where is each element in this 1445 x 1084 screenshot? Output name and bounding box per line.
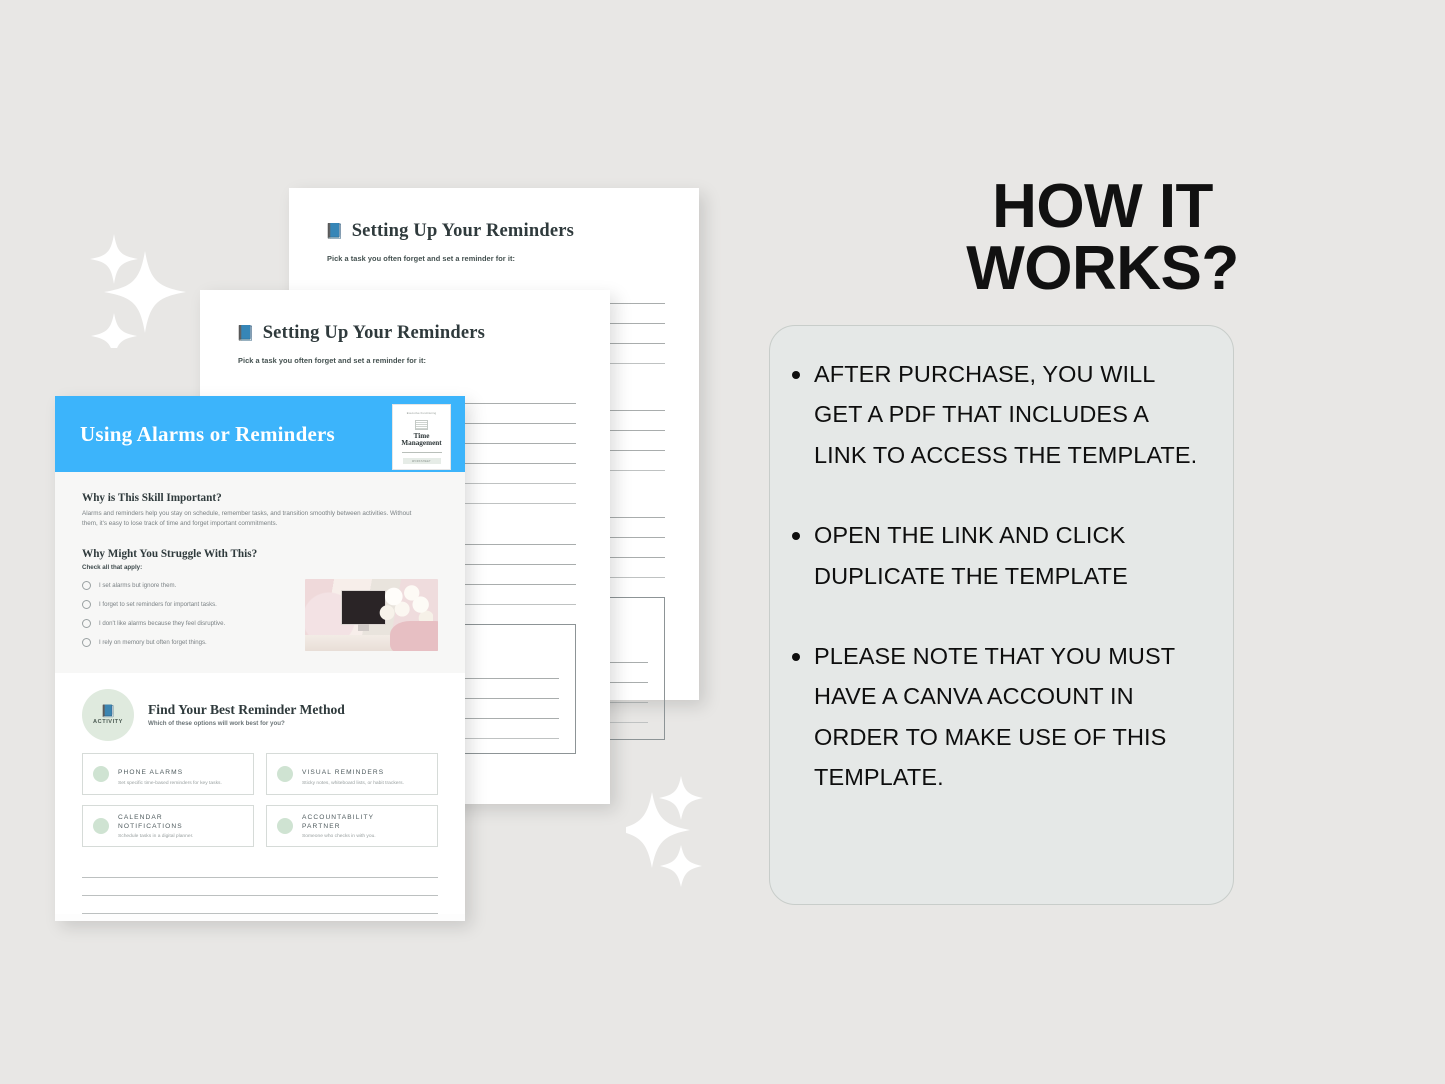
option-name: PHONE ALARMS bbox=[118, 769, 183, 776]
worksheet-intro-section: Why is This Skill Important? Alarms and … bbox=[55, 472, 465, 673]
option-card[interactable]: CALENDAR NOTIFICATIONS Schedule tasks in… bbox=[82, 805, 254, 847]
instructions-card: AFTER PURCHASE, YOU WILL GET A PDF THAT … bbox=[769, 325, 1234, 905]
section-heading-importance: Why is This Skill Important? bbox=[82, 492, 438, 504]
option-name: VISUAL REMINDERS bbox=[302, 769, 384, 776]
activity-badge: 📘 ACTIVITY bbox=[82, 689, 134, 741]
reminder-options-grid: PHONE ALARMS Set specific time-based rem… bbox=[82, 753, 438, 847]
promo-heading-line2: WORKS? bbox=[760, 238, 1445, 300]
instructions-list: AFTER PURCHASE, YOU WILL GET A PDF THAT … bbox=[792, 354, 1203, 798]
list-item-text: AFTER PURCHASE, YOU WILL GET A PDF THAT … bbox=[814, 354, 1203, 475]
option-bullet-icon bbox=[93, 818, 109, 834]
list-item: OPEN THE LINK AND CLICK DUPLICATE THE TE… bbox=[792, 515, 1203, 596]
list-item: AFTER PURCHASE, YOU WILL GET A PDF THAT … bbox=[792, 354, 1203, 475]
option-card[interactable]: VISUAL REMINDERS Sticky notes, whiteboar… bbox=[266, 753, 438, 795]
option-description: Sticky notes, whiteboard lists, or habit… bbox=[302, 781, 404, 786]
thumbnail-tag: WORKSHEET bbox=[403, 458, 441, 464]
checklist-item[interactable]: I set alarms but ignore them. bbox=[82, 581, 291, 590]
option-description: Schedule tasks in a digital planner. bbox=[118, 834, 210, 839]
worksheet-page-front: Using Alarms or Reminders Executive Func… bbox=[55, 396, 465, 921]
checklist-item-label: I rely on memory but often forget things… bbox=[99, 639, 207, 646]
photo-chair bbox=[390, 621, 438, 651]
thumbnail-glyph-icon bbox=[415, 420, 428, 430]
promo-copy-area: HOW IT WORKS? AFTER PURCHASE, YOU WILL G… bbox=[760, 0, 1445, 1084]
cover-thumbnail: Executive Functioning Time Management WO… bbox=[392, 404, 451, 470]
product-mockup-area: 📘 Setting Up Your Reminders Pick a task … bbox=[0, 0, 760, 1084]
option-card[interactable]: PHONE ALARMS Set specific time-based rem… bbox=[82, 753, 254, 795]
activity-subtitle: Which of these options will work best fo… bbox=[148, 720, 345, 727]
checklist-item-label: I don't like alarms because they feel di… bbox=[99, 620, 225, 627]
worksheet-title: Using Alarms or Reminders bbox=[80, 422, 335, 447]
section-body-importance: Alarms and reminders help you stay on sc… bbox=[82, 509, 412, 530]
page-title: Setting Up Your Reminders bbox=[352, 221, 574, 242]
option-bullet-icon bbox=[277, 766, 293, 782]
page-title: Setting Up Your Reminders bbox=[263, 323, 485, 344]
sparkle-icon bbox=[76, 218, 196, 348]
checklist-item[interactable]: I don't like alarms because they feel di… bbox=[82, 619, 291, 628]
checklist-item-label: I set alarms but ignore them. bbox=[99, 582, 176, 589]
option-name: CALENDAR NOTIFICATIONS bbox=[118, 813, 210, 832]
worksheet-header-bar: Using Alarms or Reminders Executive Func… bbox=[55, 396, 465, 472]
option-card[interactable]: ACCOUNTABILITY PARTNER Someone who check… bbox=[266, 805, 438, 847]
documents-icon: 📘 bbox=[236, 326, 255, 341]
desk-photo bbox=[305, 579, 438, 651]
page-header: 📘 Setting Up Your Reminders bbox=[289, 188, 699, 242]
promo-heading: HOW IT WORKS? bbox=[760, 176, 1445, 300]
section-heading-struggle: Why Might You Struggle With This? bbox=[82, 548, 438, 560]
write-line bbox=[82, 913, 438, 914]
checkbox-icon[interactable] bbox=[82, 581, 91, 590]
write-line bbox=[82, 877, 438, 878]
page-header: 📘 Setting Up Your Reminders bbox=[200, 290, 610, 344]
documents-icon: 📘 bbox=[101, 705, 116, 717]
sparkle-cluster-bottom-right bbox=[626, 762, 756, 892]
documents-icon: 📘 bbox=[325, 224, 344, 239]
promo-heading-line1: HOW IT bbox=[760, 176, 1445, 238]
thumbnail-rule bbox=[402, 451, 442, 453]
activity-section: 📘 ACTIVITY Find Your Best Reminder Metho… bbox=[55, 673, 465, 857]
page-subtitle: Pick a task you often forget and set a r… bbox=[200, 356, 610, 365]
list-item-text: PLEASE NOTE THAT YOU MUST HAVE A CANVA A… bbox=[814, 636, 1203, 798]
checklist-item[interactable]: I forget to set reminders for important … bbox=[82, 600, 291, 609]
thumbnail-eyebrow: Executive Functioning bbox=[407, 412, 437, 416]
option-description: Someone who checks in with you. bbox=[302, 834, 397, 839]
option-name: ACCOUNTABILITY PARTNER bbox=[302, 813, 397, 832]
option-description: Set specific time-based reminders for ke… bbox=[118, 781, 222, 786]
checklist-item-label: I forget to set reminders for important … bbox=[99, 601, 217, 608]
list-item-text: OPEN THE LINK AND CLICK DUPLICATE THE TE… bbox=[814, 515, 1203, 596]
option-bullet-icon bbox=[277, 818, 293, 834]
thumbnail-title-line2: Management bbox=[401, 440, 441, 448]
write-line bbox=[82, 895, 438, 896]
bullet-icon bbox=[792, 371, 800, 379]
option-bullet-icon bbox=[93, 766, 109, 782]
sparkle-icon bbox=[626, 762, 756, 892]
page-subtitle: Pick a task you often forget and set a r… bbox=[289, 254, 699, 263]
checkbox-icon[interactable] bbox=[82, 600, 91, 609]
checklist-item[interactable]: I rely on memory but often forget things… bbox=[82, 638, 291, 647]
checklist: I set alarms but ignore them. I forget t… bbox=[82, 579, 291, 657]
worksheet-bottom-lines bbox=[55, 857, 465, 914]
activity-title: Find Your Best Reminder Method bbox=[148, 702, 345, 718]
activity-badge-label: ACTIVITY bbox=[93, 719, 123, 725]
checkbox-icon[interactable] bbox=[82, 638, 91, 647]
checkbox-icon[interactable] bbox=[82, 619, 91, 628]
list-item: PLEASE NOTE THAT YOU MUST HAVE A CANVA A… bbox=[792, 636, 1203, 798]
sparkle-cluster-top-left bbox=[76, 218, 196, 348]
checklist-lead: Check all that apply: bbox=[82, 564, 438, 571]
bullet-icon bbox=[792, 532, 800, 540]
bullet-icon bbox=[792, 653, 800, 661]
